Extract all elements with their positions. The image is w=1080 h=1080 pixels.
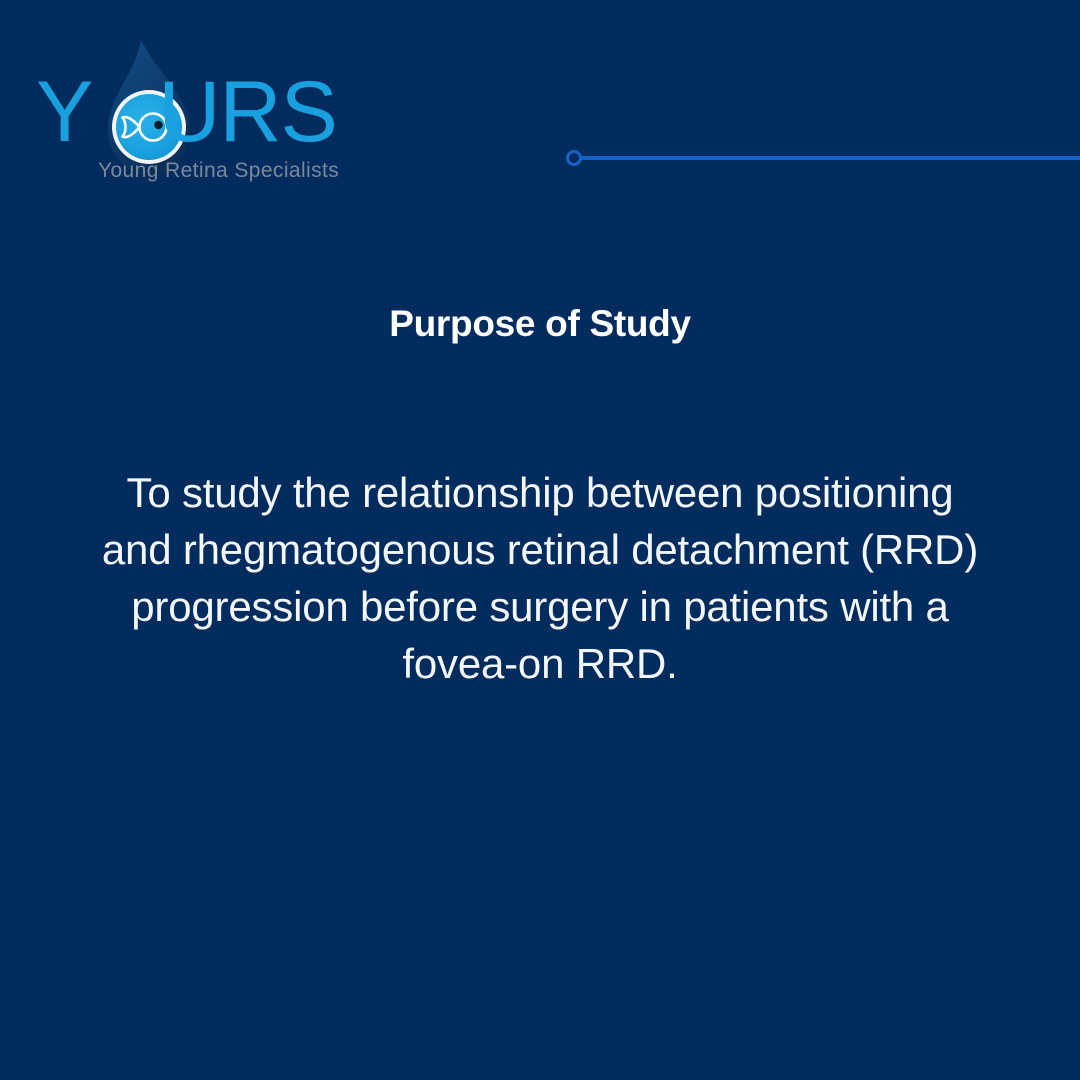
eye-orb bbox=[112, 90, 186, 164]
page-title: Purpose of Study bbox=[0, 303, 1080, 345]
rule-line bbox=[580, 156, 1080, 160]
body-paragraph: To study the relationship between positi… bbox=[90, 464, 990, 692]
brand-logo: YOURS Young Retina Specialists bbox=[36, 32, 366, 197]
slide-canvas: YOURS Young Retina Specialists Purpose o… bbox=[0, 0, 1080, 1080]
decorative-rule bbox=[566, 148, 1080, 168]
brand-tagline: Young Retina Specialists bbox=[98, 159, 339, 183]
pupil-dot bbox=[154, 121, 162, 129]
